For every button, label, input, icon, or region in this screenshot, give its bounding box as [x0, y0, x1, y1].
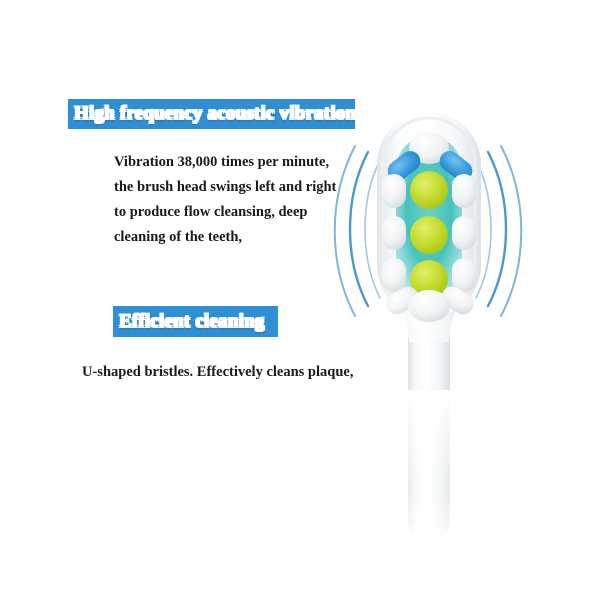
body-line: Vibration 38,000 times per minute, [114, 150, 364, 175]
toothbrush-illustration [330, 90, 560, 550]
body-line: the brush head swings left and right [114, 175, 364, 200]
toothbrush-head-image [330, 90, 560, 550]
bristle-tuft-white [382, 174, 406, 208]
body-line: cleaning of the teeth, [114, 225, 364, 250]
bristle-tuft-white [382, 216, 406, 250]
product-feature-graphic: High frequency acoustic vibration Vibrat… [0, 0, 600, 600]
bristle-tuft-green [410, 216, 448, 254]
bristle-tuft-white [452, 258, 476, 292]
vibration-waves-left [335, 146, 380, 316]
body-line: to produce flow cleansing, deep [114, 200, 364, 225]
bristle-tuft-white [382, 258, 406, 292]
feature-banner-vibration: High frequency acoustic vibration [68, 99, 355, 129]
bristle-tufts [382, 132, 478, 322]
feature-body-vibration: Vibration 38,000 times per minute, the b… [114, 150, 364, 250]
bristle-tuft-white [408, 290, 450, 322]
vibration-waves-right [476, 146, 521, 316]
feature-banner-cleaning: Efficient cleaning [113, 306, 278, 337]
bristle-tuft-white [452, 216, 476, 250]
feature-body-cleaning: U-shaped bristles. Effectively cleans pl… [82, 361, 362, 383]
bristle-tuft-green [410, 171, 448, 209]
bristle-tuft-white [452, 174, 476, 208]
